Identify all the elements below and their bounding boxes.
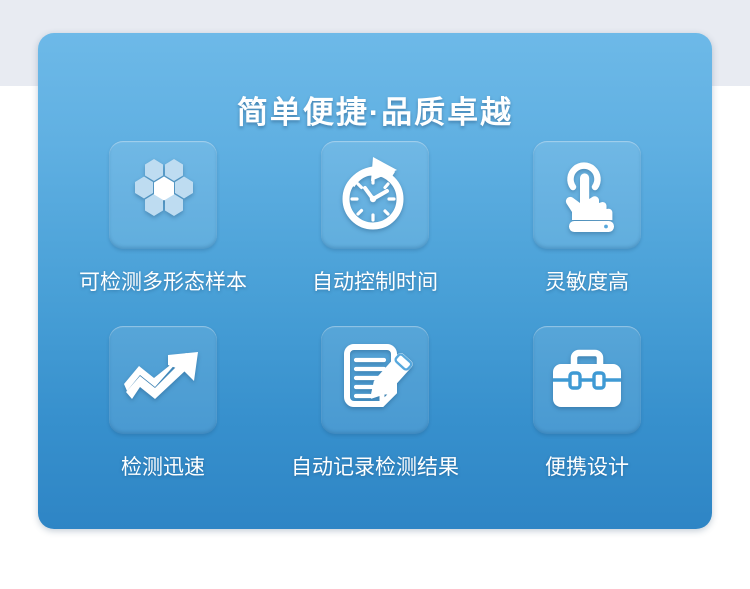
icon-tile [109, 326, 217, 434]
panel-title: 简单便捷·品质卓越 [38, 87, 712, 132]
feature-label: 便携设计 [545, 451, 629, 481]
feature-label: 自动控制时间 [312, 266, 438, 296]
feature-row-1: 可检测多形态样本 [63, 141, 687, 296]
icon-tile [321, 141, 429, 249]
icon-tile [321, 326, 429, 434]
feature-label: 可检测多形态样本 [79, 266, 247, 296]
feature-label: 灵敏度高 [545, 266, 629, 296]
document-pencil-edit-icon [337, 342, 413, 418]
feature-item-auto-record[interactable]: 自动记录检测结果 [275, 326, 475, 481]
feature-row-2: 检测迅速 [63, 326, 687, 481]
feature-item-auto-timing[interactable]: 自动控制时间 [275, 141, 475, 296]
feature-item-sample-forms[interactable]: 可检测多形态样本 [63, 141, 263, 296]
clock-arrow-timer-icon [335, 155, 415, 235]
trending-up-arrow-icon [124, 351, 202, 409]
feature-grid: 可检测多形态样本 [63, 141, 687, 481]
feature-label: 自动记录检测结果 [291, 451, 459, 481]
feature-label: 检测迅速 [121, 451, 205, 481]
icon-tile [533, 141, 641, 249]
feature-item-portable-design[interactable]: 便携设计 [487, 326, 687, 481]
icon-tile [109, 141, 217, 249]
feature-item-fast-detection[interactable]: 检测迅速 [63, 326, 263, 481]
icon-tile [533, 326, 641, 434]
hand-touch-tap-icon [551, 155, 623, 235]
honeycomb-hexagons-icon [124, 156, 202, 234]
feature-item-high-sensitivity[interactable]: 灵敏度高 [487, 141, 687, 296]
feature-highlights-panel: 简单便捷·品质卓越 [38, 33, 712, 529]
briefcase-toolbox-icon [549, 348, 625, 412]
